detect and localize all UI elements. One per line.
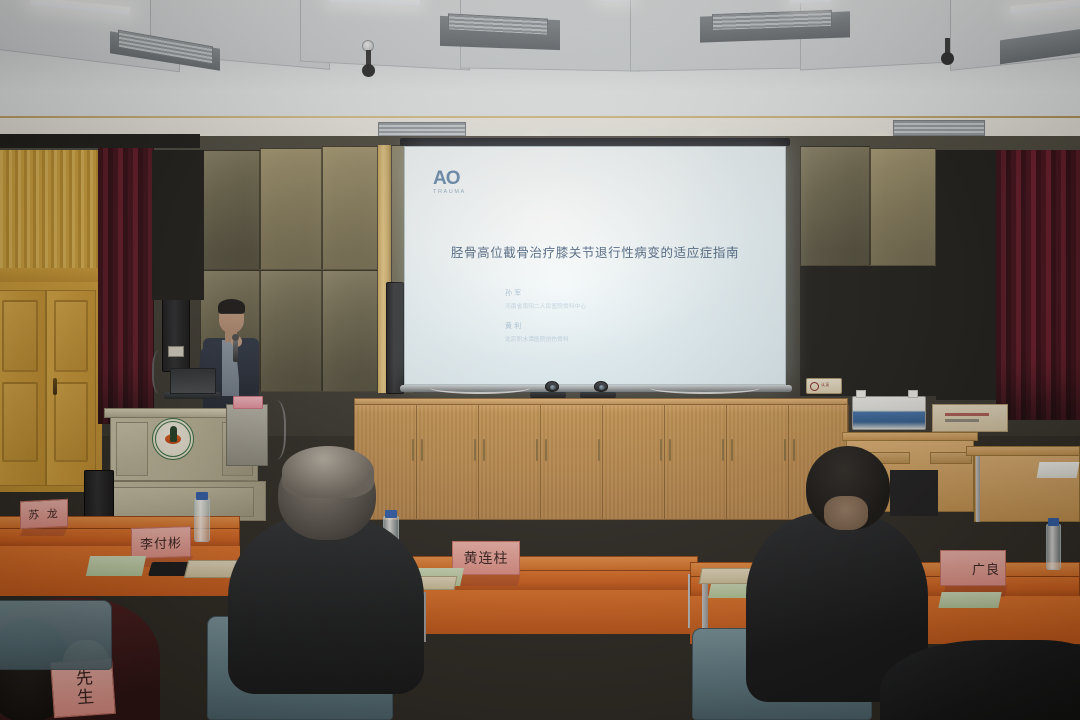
bottle-cap (385, 510, 397, 518)
vc-unit-base (530, 392, 566, 398)
certification-plaque: 认证 (806, 378, 842, 394)
cabinet-handle-icon[interactable] (784, 439, 786, 461)
door-panel (2, 382, 38, 462)
water-bottle (194, 498, 210, 542)
cabinet-door[interactable] (727, 405, 789, 519)
audience-ear (824, 496, 868, 530)
placard-shadow (454, 574, 521, 586)
handout-paper (86, 556, 146, 576)
cabinet-door[interactable] (417, 405, 479, 519)
cabinet-handle-icon[interactable] (660, 439, 662, 461)
plaque-text: 认证 (821, 382, 830, 388)
presenter-glasses-icon (221, 313, 242, 316)
printer-paper-tray (908, 390, 918, 398)
presenter-1-affiliation: 河南省南阳二人民医院骨科中心 (505, 301, 685, 310)
cabinet-door[interactable] (665, 405, 727, 519)
floor-speaker (84, 470, 114, 518)
door-panel (2, 300, 38, 372)
slide-title: 胫骨高位截骨治疗膝关节退行性病变的适应症指南 (405, 242, 785, 261)
ao-logo-subtitle: TRAUMA (433, 190, 466, 196)
nameplate-text: 黄连柱 (464, 548, 509, 568)
cabinet-handle-icon[interactable] (421, 439, 423, 461)
audience-torso (228, 514, 424, 694)
podium-cable (262, 400, 286, 460)
nameplate-text: 李付彬 (140, 532, 182, 552)
cardboard-box (932, 404, 1008, 432)
nameplate-text: 苏 龙 (28, 505, 60, 523)
nameplate: 广良 (940, 550, 1006, 586)
cabinet-handle-icon[interactable] (731, 439, 733, 461)
bottle-cap (196, 492, 208, 500)
hospital-emblem (152, 418, 194, 460)
loudspeaker (386, 282, 404, 394)
audience-hair (282, 446, 374, 498)
handout-paper (938, 592, 1001, 608)
soffit-vent (893, 120, 985, 136)
printer (852, 396, 926, 430)
slatted-wood-wall (0, 150, 98, 272)
printer-paper-tray (856, 390, 866, 398)
water-bottle (1046, 524, 1061, 570)
side-desk-top (842, 432, 978, 441)
cabinet-handle-icon[interactable] (474, 439, 476, 461)
video-camera-icon (545, 381, 559, 392)
cabinet-handle-icon[interactable] (536, 439, 538, 461)
handout-paper (1037, 462, 1080, 478)
cabinet-handle-icon[interactable] (722, 439, 724, 461)
cable (650, 382, 760, 394)
laptop-screen (170, 368, 216, 394)
right-side-table-top (966, 446, 1080, 456)
podium-base-panel (112, 487, 254, 517)
ao-logo-mark: AO (433, 169, 466, 188)
stage-curtain-right (996, 150, 1080, 420)
cabinet-handle-icon[interactable] (412, 439, 414, 461)
lecture-hall-photo: AO TRAUMA 胫骨高位截骨治疗膝关节退行性病变的适应症指南 孙 军 河南省… (0, 0, 1080, 720)
table-leg (976, 456, 980, 522)
emblem-figure (170, 426, 177, 442)
stage-curtain-left (98, 148, 154, 424)
wall-switch[interactable] (168, 346, 184, 357)
nameplate-text: 先生 (69, 668, 97, 708)
cabinet-handle-icon[interactable] (483, 439, 485, 461)
ceiling-speaker-icon (362, 64, 375, 77)
desk-cpu-tower (890, 470, 938, 516)
presenter-2-affiliation: 北京积水潭医院创伤骨科 (505, 334, 685, 343)
seal-icon (810, 382, 819, 391)
ao-trauma-logo: AO TRAUMA (433, 169, 466, 196)
presenter-2-name: 黄 利 (505, 321, 685, 331)
gooseneck-microphone (152, 350, 170, 394)
nameplate: 苏 龙 (20, 499, 68, 530)
table-apron (398, 590, 698, 634)
handheld-microphone (233, 340, 238, 362)
video-camera-icon (594, 381, 608, 392)
ceiling-light-strip (600, 0, 630, 1)
nameplate: 李付彬 (131, 526, 191, 559)
door-frame (0, 268, 102, 282)
door-panel (54, 382, 88, 462)
cabinet-door[interactable] (603, 405, 665, 519)
cabinet-handle-icon[interactable] (793, 439, 795, 461)
cable (430, 382, 530, 394)
projection-screen-housing (400, 138, 790, 146)
chair (0, 600, 112, 670)
cabinet-door[interactable] (479, 405, 541, 519)
cabinet-door[interactable] (541, 405, 603, 519)
cabinet-handle-icon[interactable] (598, 439, 600, 461)
projection-screen: AO TRAUMA 胫骨高位截骨治疗膝关节退行性病变的适应症指南 孙 军 河南省… (404, 146, 786, 385)
nameplate-text: 广良 (972, 559, 1000, 578)
cabinet-run (354, 404, 848, 520)
door-panel (54, 300, 88, 372)
door-handle-icon[interactable] (53, 378, 57, 395)
ceiling-speaker-icon (941, 52, 954, 65)
microphone-head-icon (232, 334, 239, 341)
presenter-hair (218, 299, 245, 314)
cabinet-handle-icon[interactable] (545, 439, 547, 461)
vc-unit-base (580, 392, 616, 398)
cabinet-handle-icon[interactable] (669, 439, 671, 461)
bottle-cap (1048, 518, 1059, 526)
podium-panel (116, 422, 148, 476)
podium-pink-card (233, 396, 263, 409)
presenter-1-name: 孙 军 (505, 288, 685, 298)
